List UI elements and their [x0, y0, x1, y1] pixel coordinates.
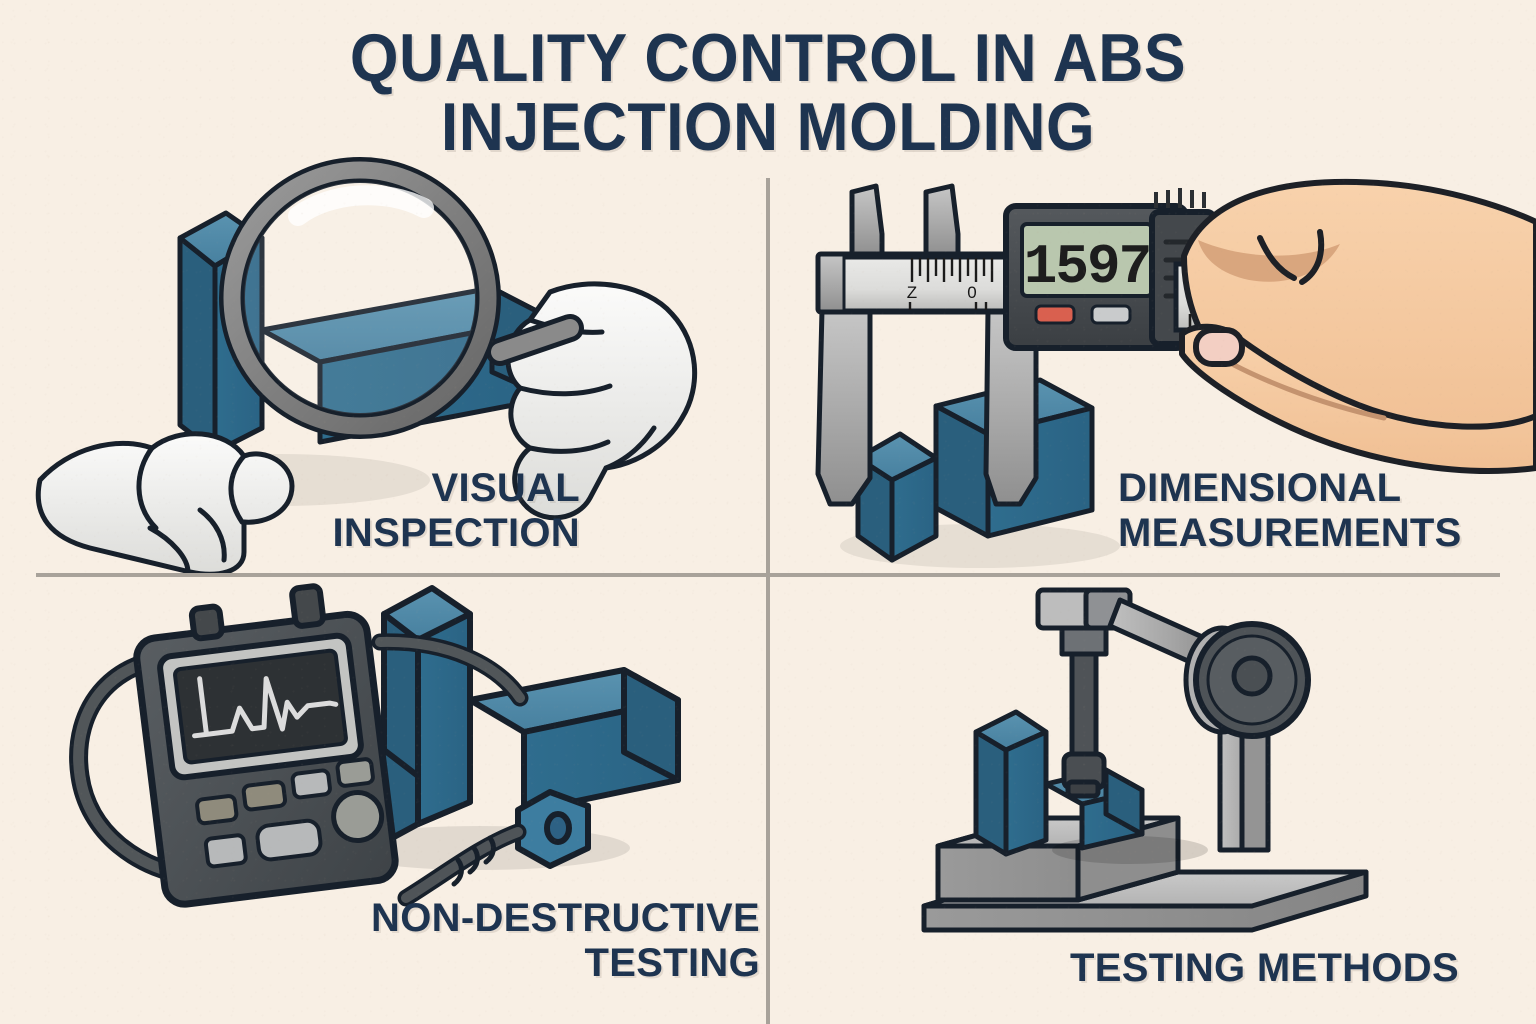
quadrant-label-non-destructive-testing: NON-DESTRUCTIVE TESTING [300, 896, 760, 986]
device-rotary-dial[interactable] [331, 790, 384, 843]
caliper-upper-jaws [852, 186, 958, 256]
device-connector-right [291, 585, 323, 626]
caliper-mark-left-2: 0 [967, 283, 976, 302]
tester-load-wheel[interactable] [1186, 624, 1308, 736]
ndt-probe [518, 792, 588, 866]
horizontal-divider [36, 573, 1500, 577]
title-line-2: INJECTION MOLDING [61, 93, 1474, 162]
operator-hand [1182, 182, 1536, 471]
infographic-poster: QUALITY CONTROL IN ABS INJECTION MOLDING [0, 0, 1536, 1024]
caliper-zero-button[interactable] [1092, 306, 1130, 323]
quadrant-label-testing-methods: TESTING METHODS [1070, 946, 1500, 991]
quadrant-label-visual-inspection: VISUAL INSPECTION [230, 466, 580, 556]
ndt-flaw-detector [131, 580, 398, 906]
caliper-power-button[interactable] [1036, 306, 1074, 323]
device-connector-left [191, 606, 222, 639]
tester-indenter [1064, 642, 1104, 796]
wheel-hub [1234, 658, 1270, 694]
title-line-1: QUALITY CONTROL IN ABS [61, 24, 1474, 93]
quadrant-label-dimensional-measurements: DIMENSIONAL MEASUREMENTS [1118, 466, 1518, 556]
testing-methods-illustration [920, 584, 1370, 968]
caliper-mark-left-1: Z [907, 283, 917, 302]
vertical-divider [766, 178, 770, 1024]
page-title: QUALITY CONTROL IN ABS INJECTION MOLDING [61, 24, 1474, 163]
non-destructive-testing-illustration [50, 580, 750, 910]
part-shadow [1052, 836, 1208, 864]
caliper-lcd-reading: 1597 [1024, 235, 1150, 299]
